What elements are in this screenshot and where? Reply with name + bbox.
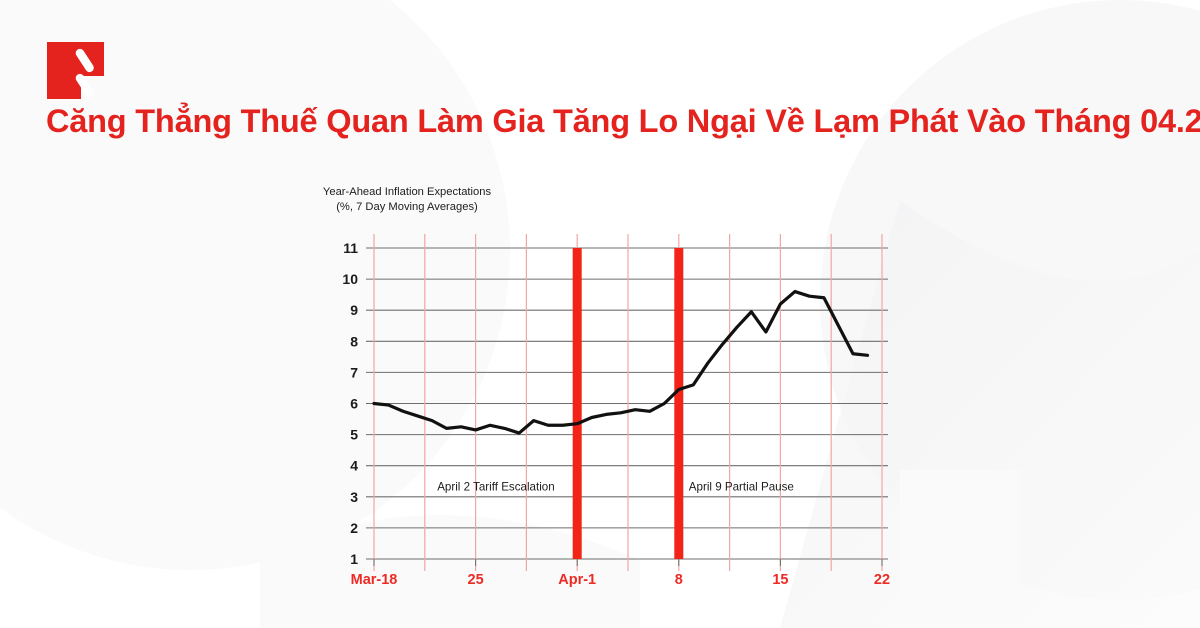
svg-text:10: 10 [342, 271, 358, 287]
svg-text:4: 4 [350, 458, 358, 474]
brand-logo-icon [47, 42, 104, 99]
svg-text:8: 8 [675, 572, 683, 588]
svg-text:April 2 Tariff Escalation: April 2 Tariff Escalation [437, 481, 555, 494]
svg-text:Mar-18: Mar-18 [351, 572, 398, 588]
svg-text:11: 11 [343, 240, 358, 256]
svg-text:5: 5 [350, 427, 358, 443]
vertical-gridlines [374, 234, 882, 571]
x-axis-tick-labels: Mar-1825Apr-181522 [351, 572, 890, 588]
svg-text:25: 25 [468, 572, 484, 588]
svg-text:8: 8 [350, 333, 358, 349]
svg-text:2: 2 [350, 520, 358, 536]
chart-figure: Year-Ahead Inflation Expectations (%, 7 … [270, 185, 910, 595]
svg-text:April 9 Partial Pause: April 9 Partial Pause [689, 481, 794, 494]
line-chart-plot: 1234567891011 Mar-1825Apr-181522 April 2… [270, 185, 910, 595]
y-axis-tick-labels: 1234567891011 [342, 240, 358, 567]
page-title: Căng Thẳng Thuế Quan Làm Gia Tăng Lo Ngạ… [46, 101, 1176, 142]
svg-text:1: 1 [350, 551, 358, 567]
inflation-expectations-series [374, 292, 867, 434]
svg-text:9: 9 [350, 302, 358, 318]
svg-text:3: 3 [350, 489, 358, 505]
svg-text:Apr-1: Apr-1 [558, 572, 596, 588]
svg-text:15: 15 [772, 572, 788, 588]
event-annotations: April 2 Tariff EscalationApril 9 Partial… [437, 481, 794, 494]
svg-text:6: 6 [350, 396, 358, 412]
svg-text:7: 7 [350, 364, 358, 380]
svg-text:22: 22 [874, 572, 890, 588]
